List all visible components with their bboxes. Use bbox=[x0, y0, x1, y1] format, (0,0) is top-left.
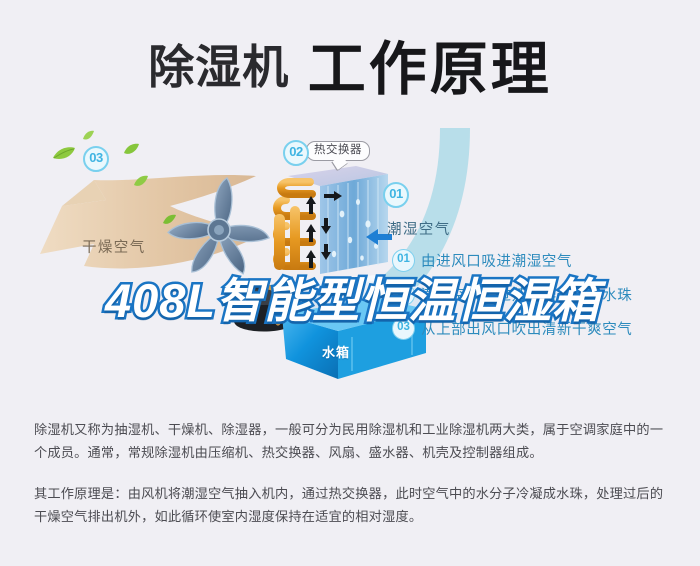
leaf-icon bbox=[52, 146, 76, 167]
dry-air-label: 干燥空气 bbox=[82, 236, 146, 257]
leaf-icon bbox=[123, 143, 140, 161]
heat-exchanger-callout: 热交换器 bbox=[306, 141, 370, 161]
description-paragraph-1: 除湿机又称为抽湿机、干燥机、除湿器，一般可分为民用除湿机和工业除湿机两大类，属于… bbox=[34, 418, 670, 464]
diagram-marker-01: 01 bbox=[383, 182, 409, 208]
leaf-icon bbox=[82, 128, 95, 146]
leaf-icon bbox=[133, 175, 149, 193]
product-overlay-headline: 408L智能型恒温恒湿箱 bbox=[105, 262, 600, 331]
page-title-part-b: 工作原理 bbox=[308, 37, 552, 102]
page-title: 除湿机 工作原理 bbox=[0, 22, 700, 106]
description-paragraph-2: 其工作原理是：由风机将潮湿空气抽入机内，通过热交换器，此时空气中的水分子冷凝成水… bbox=[34, 482, 670, 528]
diagram-marker-03: 03 bbox=[83, 146, 109, 172]
water-tank-label: 水箱 bbox=[322, 342, 350, 361]
humid-air-label: 潮湿空气 bbox=[387, 218, 451, 239]
diagram-marker-02: 02 bbox=[283, 140, 309, 166]
page-title-part-a: 除湿机 bbox=[148, 41, 289, 93]
